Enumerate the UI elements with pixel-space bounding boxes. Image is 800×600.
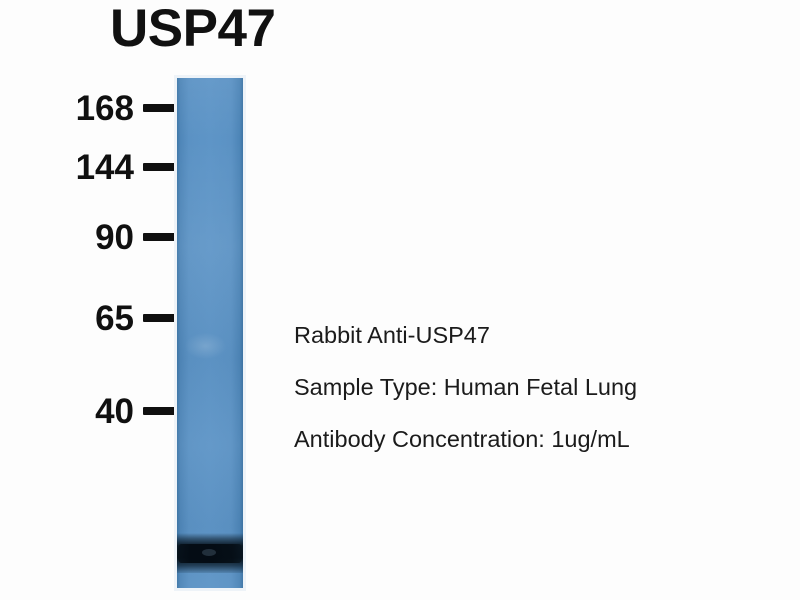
marker-label: 65 <box>95 301 134 336</box>
band-speck <box>202 549 216 556</box>
annotation-line-sample-type: Sample Type: Human Fetal Lung <box>294 361 764 413</box>
marker-40: 40 <box>95 394 175 428</box>
marker-90: 90 <box>95 220 175 254</box>
marker-168: 168 <box>76 91 175 125</box>
membrane-texture <box>177 78 243 588</box>
marker-dash-icon <box>143 407 175 415</box>
marker-label: 144 <box>76 150 134 185</box>
annotation-block: Rabbit Anti-USP47 Sample Type: Human Fet… <box>294 309 764 465</box>
western-blot-figure: USP47 168 144 90 65 40 <box>0 0 800 600</box>
molecular-weight-ladder: 168 144 90 65 40 <box>0 0 180 600</box>
marker-65: 65 <box>95 301 175 335</box>
marker-label: 90 <box>95 220 134 255</box>
marker-label: 40 <box>95 394 134 429</box>
protein-band <box>178 544 241 563</box>
marker-dash-icon <box>143 233 175 241</box>
marker-144: 144 <box>76 150 175 184</box>
marker-dash-icon <box>143 104 175 112</box>
gel-lane-container <box>174 75 246 591</box>
annotation-line-concentration: Antibody Concentration: 1ug/mL <box>294 413 764 465</box>
faint-background-smudge <box>185 333 226 359</box>
gel-lane <box>177 78 243 588</box>
annotation-line-antibody: Rabbit Anti-USP47 <box>294 309 764 361</box>
protein-band-halo <box>177 533 243 573</box>
marker-dash-icon <box>143 163 175 171</box>
marker-label: 168 <box>76 91 134 126</box>
marker-dash-icon <box>143 314 175 322</box>
